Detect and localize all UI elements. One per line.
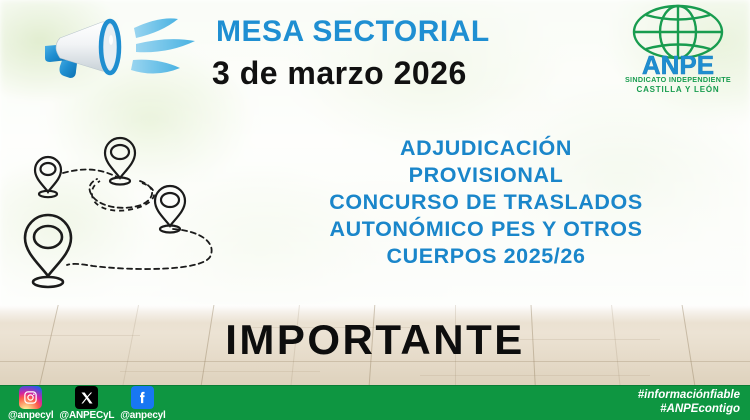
importante-callout: IMPORTANTE (0, 316, 750, 364)
instagram-handle[interactable]: @anpecyl (8, 410, 53, 420)
announcement-line: CONCURSO DE TRASLADOS (236, 189, 736, 216)
hashtag-anpe-contigo: #ANPEcontigo (638, 402, 740, 416)
page-title: MESA SECTORIAL (216, 15, 490, 49)
anpe-logo: ANPE SINDICATO INDEPENDIENTE CASTILLA Y … (612, 2, 744, 94)
social-link-x[interactable]: @ANPECyL (59, 386, 114, 420)
announcement-line: CUERPOS 2025/26 (236, 243, 736, 270)
social-link-facebook[interactable]: @anpecyl (120, 386, 165, 420)
announcement-body: ADJUDICACIÓN PROVISIONAL CONCURSO DE TRA… (236, 135, 736, 270)
anpe-logo-region: CASTILLA Y LEÓN (637, 85, 720, 94)
x-icon[interactable] (75, 386, 98, 409)
facebook-handle[interactable]: @anpecyl (120, 410, 165, 420)
hashtags: #informaciónfiable #ANPEcontigo (638, 388, 740, 416)
megaphone-icon (30, 8, 205, 88)
announcement-line: ADJUDICACIÓN (236, 135, 736, 162)
wood-grain (120, 371, 320, 372)
announcement-line: AUTONÓMICO PES Y OTROS (236, 216, 736, 243)
footer-bar: @anpecyl @ANPECyL @anpecyl (0, 385, 750, 420)
x-handle[interactable]: @ANPECyL (59, 410, 114, 420)
anpe-logo-subtitle: SINDICATO INDEPENDIENTE (625, 75, 731, 84)
event-date: 3 de marzo 2026 (212, 55, 467, 92)
poster-canvas: ANPE SINDICATO INDEPENDIENTE CASTILLA Y … (0, 0, 750, 420)
social-link-instagram[interactable]: @anpecyl (8, 386, 53, 420)
wood-grain (420, 375, 650, 376)
announcement-line: PROVISIONAL (236, 162, 736, 189)
hashtag-informacion-fiable: #informaciónfiable (638, 388, 740, 402)
map-route-illustration (5, 125, 250, 305)
instagram-icon[interactable] (19, 386, 42, 409)
social-links: @anpecyl @ANPECyL @anpecyl (8, 386, 172, 420)
facebook-icon[interactable] (131, 386, 154, 409)
